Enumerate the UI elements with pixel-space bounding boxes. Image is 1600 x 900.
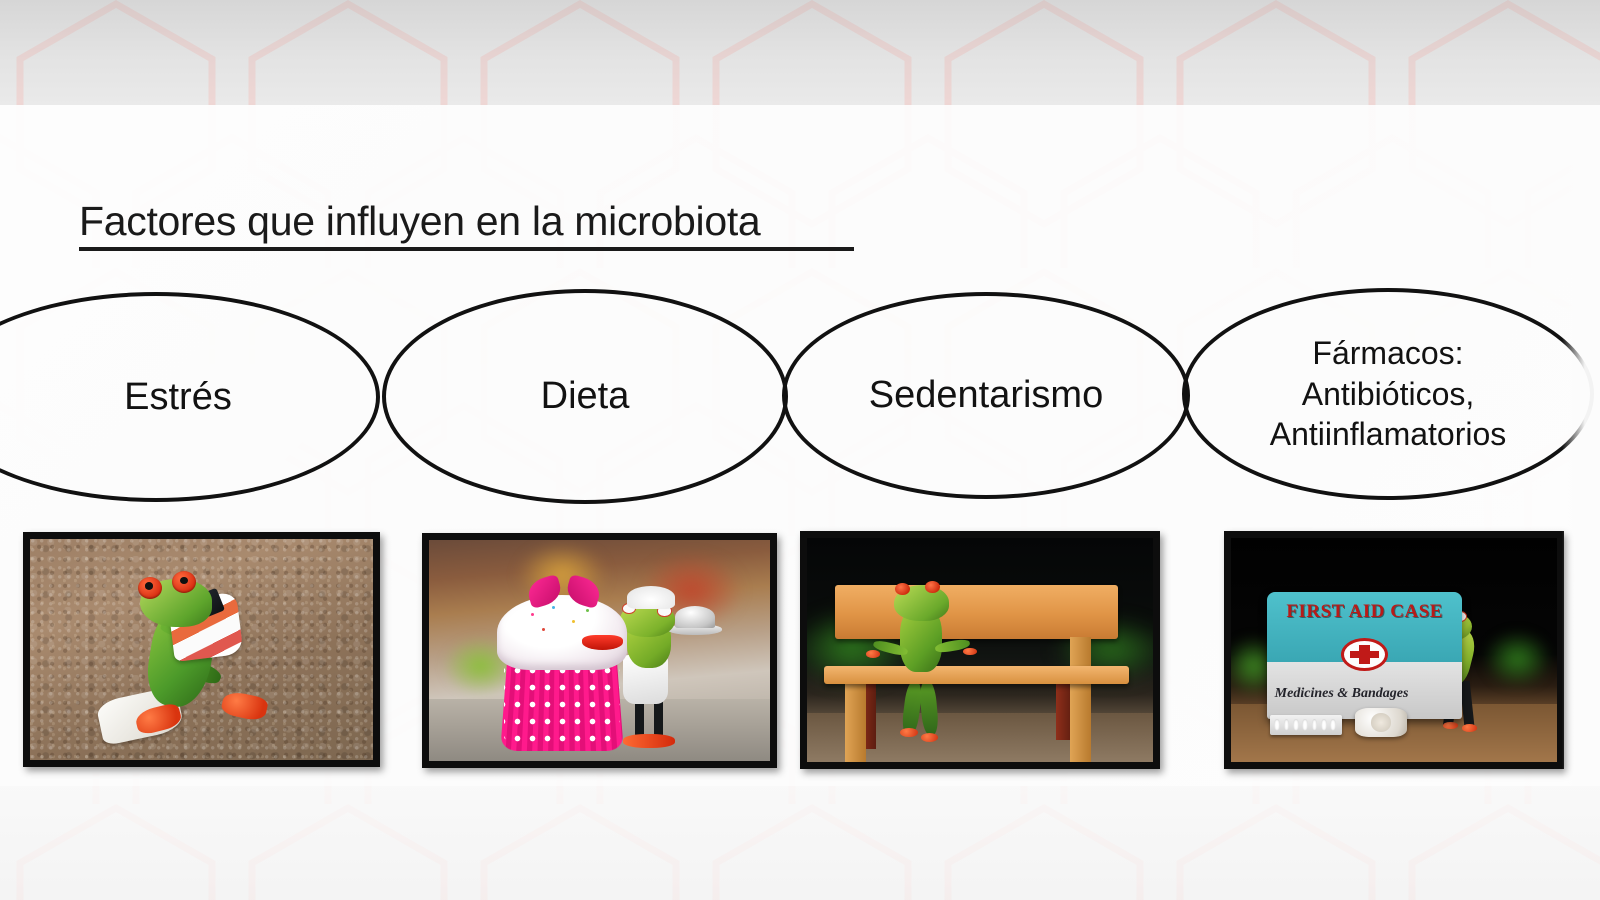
red-cross-icon xyxy=(1341,638,1388,671)
photo-farmacos[interactable]: FIRST AID CASE Medicines & Bandages xyxy=(1224,531,1564,769)
first-aid-case-title: FIRST AID CASE xyxy=(1267,601,1463,623)
first-aid-case-subtitle: Medicines & Bandages xyxy=(1275,686,1455,702)
photo-estres[interactable] xyxy=(23,532,380,767)
photo-dieta[interactable] xyxy=(422,533,777,768)
photo-sedentarismo[interactable] xyxy=(800,531,1160,769)
photo-estres-image xyxy=(30,539,373,760)
photo-dieta-image xyxy=(429,540,770,761)
first-aid-case-box: FIRST AID CASE Medicines & Bandages xyxy=(1267,592,1463,720)
slide-canvas: Factores que influyen en la microbiota E… xyxy=(0,0,1600,900)
bandage-roll xyxy=(1355,708,1407,737)
photo-farmacos-image: FIRST AID CASE Medicines & Bandages xyxy=(1231,538,1557,762)
factor-photo-row: FIRST AID CASE Medicines & Bandages xyxy=(0,0,1600,900)
pill-blister-pack xyxy=(1270,715,1342,735)
photo-sedentarismo-image xyxy=(807,538,1153,762)
